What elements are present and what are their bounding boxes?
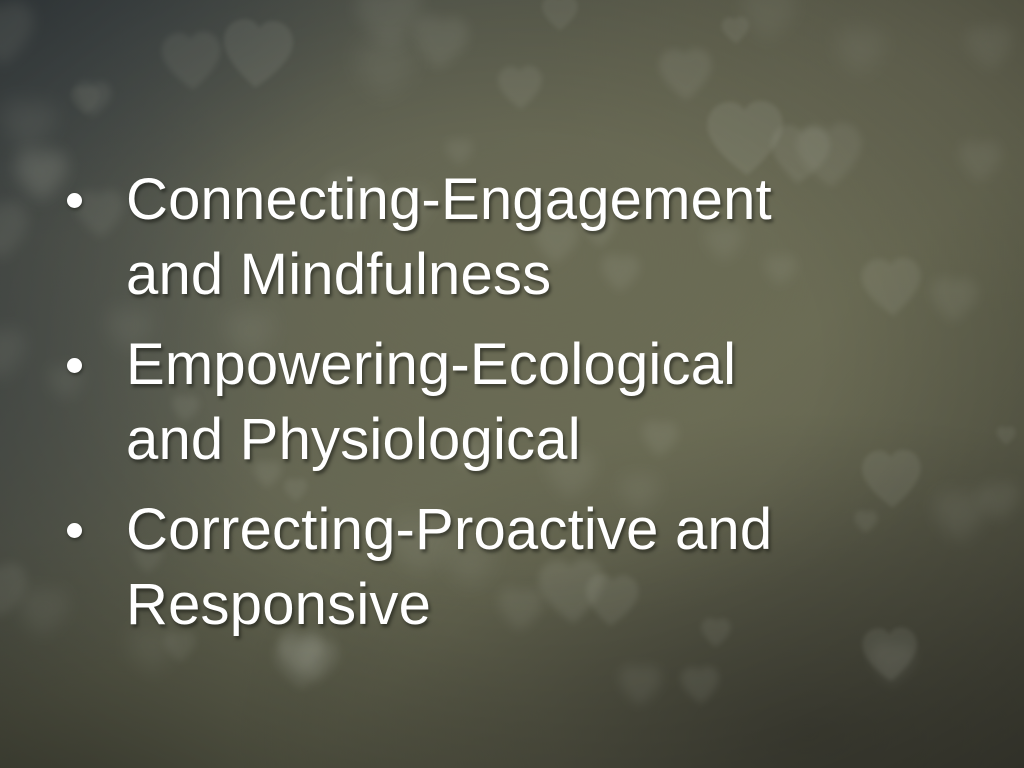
bullet-line-2: and Mindfulness [126,237,970,312]
bullet-line-2: and Physiological [126,402,970,477]
bullet-line-1: Empowering-Ecological [126,327,970,402]
list-item: Connecting-Engagement and Mindfulness [60,162,970,313]
list-item: Empowering-Ecological and Physiological [60,327,970,478]
bullet-list: Connecting-Engagement and Mindfulness Em… [60,162,970,656]
slide-canvas: Connecting-Engagement and Mindfulness Em… [0,0,1024,768]
bullet-line-1: Connecting-Engagement [126,162,970,237]
list-item: Correcting-Proactive and Responsive [60,492,970,643]
slide-content: Connecting-Engagement and Mindfulness Em… [0,0,1024,768]
bullet-line-1: Correcting-Proactive and [126,492,970,567]
bullet-line-2: Responsive [126,567,970,642]
